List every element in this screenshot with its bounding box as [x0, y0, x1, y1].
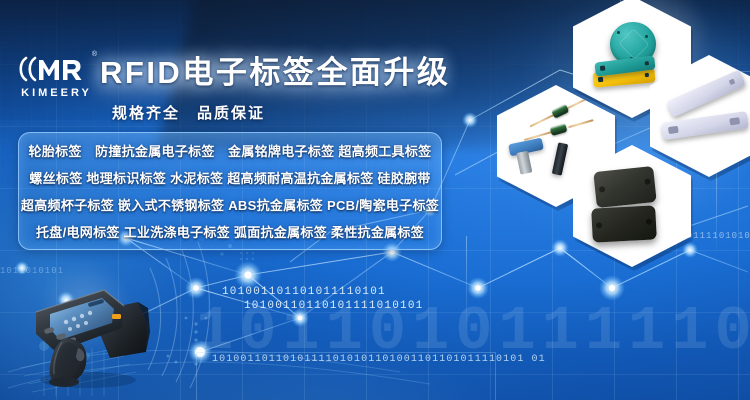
- brand-logo: ® KIMEERY: [12, 52, 98, 108]
- handheld-rfid-reader: [26, 272, 162, 390]
- binary-text-3: 1010011011010111101010110100110110101111…: [212, 354, 546, 365]
- tag-category-list: 轮胎标签 防撞抗金属电子标签 金属铭牌电子标签 超高频工具标签 螺丝标签 地理标…: [18, 132, 442, 250]
- tag-list-row: 轮胎标签 防撞抗金属电子标签 金属铭牌电子标签 超高频工具标签: [19, 138, 441, 165]
- kmr-monogram-icon: [16, 54, 94, 84]
- dark-abs-tag-large: [593, 166, 656, 208]
- rfid-promo-banner: 1011010111110101: [0, 0, 750, 400]
- binary-text-2: 10100110110101111010101: [244, 300, 423, 312]
- black-rod-tag: [552, 142, 568, 175]
- tag-list-row: 超高频杯子标签 嵌入式不锈钢标签 ABS抗金属标签 PCB/陶瓷电子标签: [19, 192, 441, 219]
- brand-name: KIMEERY: [12, 87, 98, 99]
- tag-list-row: 托盘/电网标签 工业洗涤电子标签 弧面抗金属标签 柔性抗金属标签: [19, 219, 441, 246]
- logo-mark: ®: [12, 52, 98, 86]
- headline-container: RFID电子标签全面升级: [100, 50, 450, 96]
- binary-text-1: 101001101101011110101: [222, 286, 386, 298]
- page-title: RFID电子标签全面升级: [100, 50, 450, 96]
- dark-abs-tag-small: [591, 205, 657, 242]
- page-subtitle: 规格齐全 品质保证: [112, 102, 265, 123]
- tag-list-row: 螺丝标签 地理标识标签 水泥标签 超高频耐高温抗金属标签 硅胶腕带: [19, 165, 441, 192]
- blue-bolt-tag: [508, 138, 544, 157]
- decor-vertical-line-1: [466, 236, 467, 332]
- lavender-bar-tag-top: [666, 69, 746, 117]
